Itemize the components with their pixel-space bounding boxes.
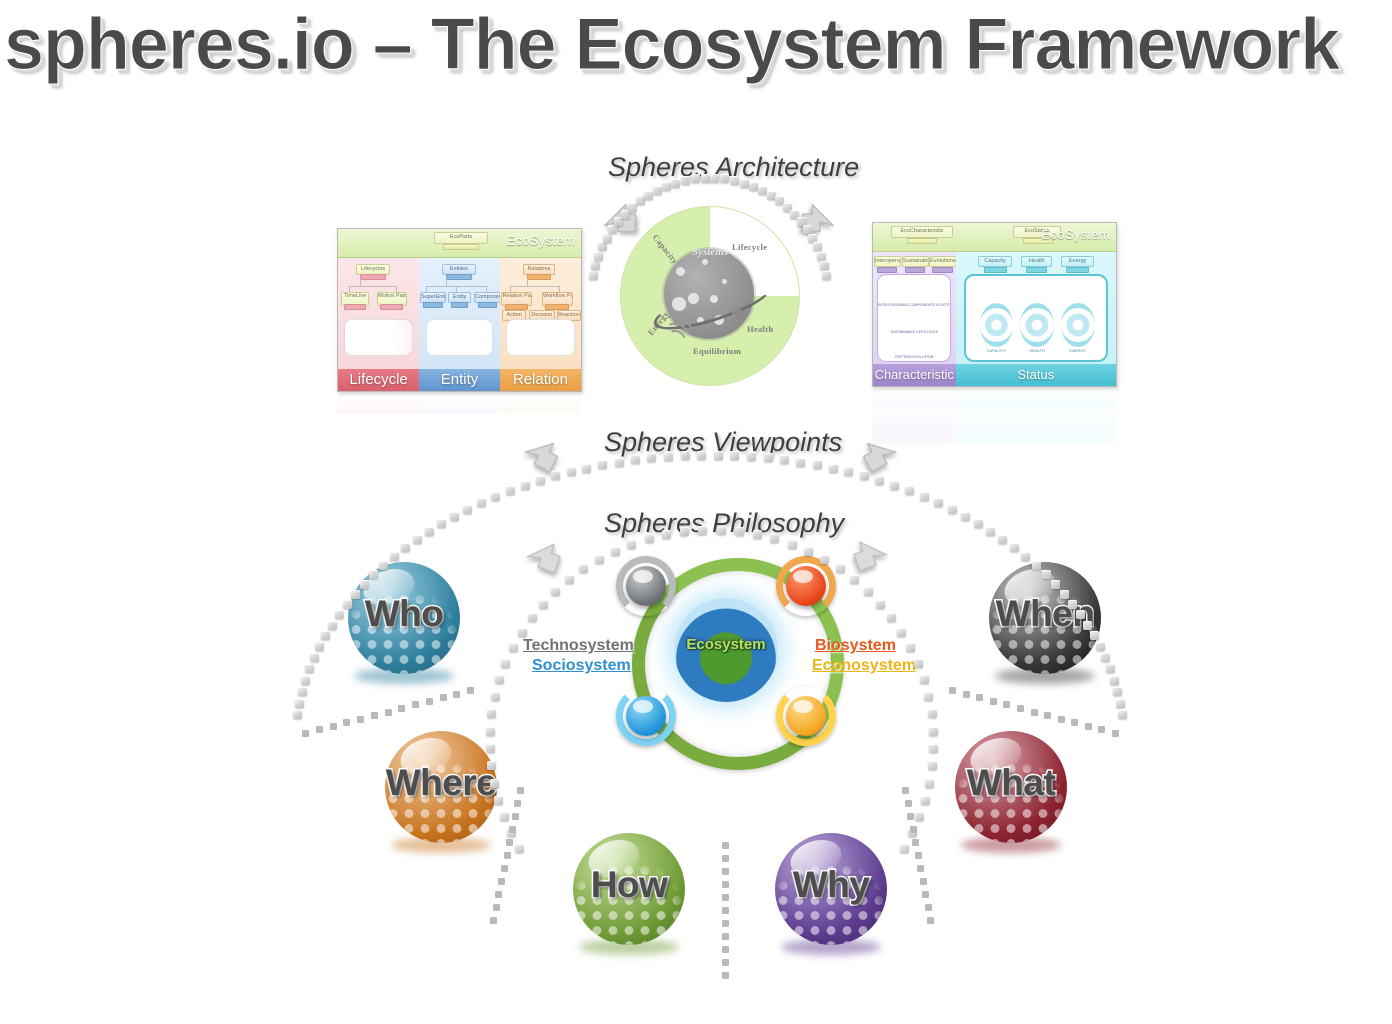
bead xyxy=(521,481,530,490)
divider-dot xyxy=(467,687,474,694)
bead xyxy=(579,564,588,573)
divider-dot xyxy=(722,933,729,940)
divider-dot xyxy=(501,865,508,872)
bead xyxy=(740,179,749,188)
bead xyxy=(662,182,671,191)
bead xyxy=(720,174,729,183)
arrow-right-icon xyxy=(512,420,574,482)
bead xyxy=(934,498,943,507)
bead xyxy=(360,580,369,589)
bead xyxy=(379,561,388,570)
divider-dot xyxy=(1003,701,1010,708)
bead xyxy=(615,458,624,467)
bead xyxy=(749,182,758,191)
bead xyxy=(295,699,304,708)
panel-header-title: EcoSystem xyxy=(507,233,575,248)
divider-dot xyxy=(509,826,516,833)
divider-dot xyxy=(514,800,521,807)
divider-dot xyxy=(722,946,729,953)
bead xyxy=(647,453,656,462)
bead xyxy=(501,659,510,668)
bead xyxy=(653,186,662,195)
divider-dot xyxy=(722,920,729,927)
bead xyxy=(627,540,636,549)
bead xyxy=(490,779,499,788)
bead xyxy=(631,455,640,464)
bead xyxy=(1032,561,1041,570)
bead xyxy=(589,271,598,280)
bead xyxy=(536,476,545,485)
bead xyxy=(611,547,620,556)
bead xyxy=(1021,552,1030,561)
bead xyxy=(691,174,700,183)
divider-dot xyxy=(722,894,729,901)
bead xyxy=(701,174,710,183)
bead xyxy=(928,709,937,718)
divider-dot xyxy=(343,719,350,726)
divider-dot xyxy=(504,852,511,859)
bead xyxy=(822,271,831,280)
bead xyxy=(735,527,744,536)
divider-dot xyxy=(498,878,505,885)
bead xyxy=(551,471,560,480)
bead xyxy=(598,242,607,251)
bead xyxy=(1116,699,1125,708)
divider-dot xyxy=(949,687,956,694)
bead xyxy=(803,225,812,234)
divider-dot xyxy=(440,694,447,701)
bead xyxy=(680,527,689,536)
bead xyxy=(509,643,518,652)
divider-dot xyxy=(453,691,460,698)
arrow-left-icon xyxy=(847,420,909,482)
bead xyxy=(321,631,330,640)
header-chip-ecoparts: EcoParts xyxy=(434,232,488,244)
philosophy-node-biosystem[interactable] xyxy=(776,556,836,616)
bead xyxy=(1083,621,1092,630)
bead xyxy=(603,234,612,243)
divider-dot xyxy=(517,787,524,794)
bead xyxy=(717,526,726,535)
bead xyxy=(758,186,767,195)
wheel-label-lifecycle: Lifecycle xyxy=(732,242,767,252)
bead xyxy=(998,535,1007,544)
chip-energy: Energy xyxy=(1061,256,1093,267)
bead xyxy=(730,451,739,460)
divider-dot xyxy=(722,972,729,979)
bead xyxy=(710,174,719,183)
divider-dot xyxy=(1071,719,1078,726)
divider-dot xyxy=(426,698,433,705)
bead xyxy=(844,467,853,476)
philosophy-label-econosystem: Econosystem xyxy=(812,656,916,675)
philosophy-center-label: Ecosystem xyxy=(674,636,778,653)
divider-dot xyxy=(925,904,932,911)
divider-dot xyxy=(1031,709,1038,716)
orb-label: Who xyxy=(348,594,460,634)
bead xyxy=(401,543,410,552)
arrow-inner-right-icon xyxy=(516,524,575,583)
bead xyxy=(876,600,885,609)
architecture-wheel[interactable]: Lifecycle Health Equilibrium Energy Capa… xyxy=(620,206,800,386)
divider-dot xyxy=(907,813,914,820)
divider-dot xyxy=(910,826,917,833)
bead xyxy=(567,467,576,476)
panel-header-title: EcoSystem xyxy=(1042,227,1110,242)
bead xyxy=(820,261,829,270)
bead xyxy=(860,471,869,480)
divider-dot xyxy=(722,842,729,849)
bead xyxy=(328,621,337,630)
divider-dot xyxy=(722,881,729,888)
bead xyxy=(528,613,537,622)
bead xyxy=(929,744,938,753)
bead xyxy=(788,540,797,549)
philosophy-node-econosystem[interactable] xyxy=(776,686,836,746)
gauge-label-health: HEALTH xyxy=(1020,348,1054,353)
bead xyxy=(920,675,929,684)
bead xyxy=(817,252,826,261)
bead xyxy=(914,659,923,668)
bead xyxy=(491,492,500,501)
divider-dot xyxy=(506,839,513,846)
bead xyxy=(813,460,822,469)
bead xyxy=(486,744,495,753)
column-footer-characteristic: Characteristic xyxy=(873,364,956,386)
characteristic-art-label-3: PATTERN EVOLUTION xyxy=(878,355,950,359)
divider-dot xyxy=(915,852,922,859)
bead xyxy=(594,252,603,261)
divider-dot xyxy=(490,917,497,924)
bead xyxy=(335,610,344,619)
bead xyxy=(506,486,515,495)
bead xyxy=(915,812,924,821)
bead xyxy=(315,642,324,651)
bead xyxy=(1113,687,1122,696)
wheel-label-health: Health xyxy=(747,324,773,334)
bead xyxy=(351,590,360,599)
bead xyxy=(450,512,459,521)
bead xyxy=(808,234,817,243)
bead xyxy=(986,527,995,536)
bead xyxy=(1068,600,1077,609)
bead xyxy=(595,555,604,564)
node-ball-icon xyxy=(626,696,666,736)
panel-column-status[interactable]: Capacity Health Energy CAPACITY HEALTH E… xyxy=(956,252,1116,386)
chip-health: Health xyxy=(1021,256,1052,267)
status-gauges: CAPACITY HEALTH ENERGY xyxy=(964,274,1108,362)
philosophy-label-biosystem: Biosystem xyxy=(815,636,896,655)
bead xyxy=(305,664,314,673)
bead xyxy=(477,498,486,507)
bead xyxy=(796,458,805,467)
bead xyxy=(301,676,310,685)
divider-dot xyxy=(316,726,323,733)
bead xyxy=(764,453,773,462)
lifecycle-diagram xyxy=(344,319,412,356)
divider-dot xyxy=(922,891,929,898)
characteristic-art-label-2: SUSTAINABLE LIFECYCLES xyxy=(878,330,950,334)
bead xyxy=(413,535,422,544)
bead xyxy=(310,653,319,662)
bead xyxy=(747,452,756,461)
architecture-panel-ecoparts[interactable]: EcoParts EcoSystem Lifecycles TimeLine M… xyxy=(337,228,582,392)
panel-header: EcoCharacteristic EcoStatus EcoSystem xyxy=(873,223,1116,252)
philosophy-node-sociosystem[interactable] xyxy=(616,686,676,746)
bead xyxy=(298,687,307,696)
bead xyxy=(598,460,607,469)
bead xyxy=(906,643,915,652)
gauge-label-energy: ENERGY xyxy=(1061,348,1095,353)
divider-dot xyxy=(905,800,912,807)
caption-spheres-viewpoints: Spheres Viewpoints xyxy=(604,427,842,458)
divider-dot xyxy=(1085,723,1092,730)
bead xyxy=(582,464,591,473)
viewpoint-sphere-what[interactable]: What xyxy=(955,731,1073,849)
divider-dot xyxy=(1098,726,1105,733)
divider-dot xyxy=(902,787,909,794)
bead xyxy=(850,575,859,584)
divider-dot xyxy=(1044,712,1051,719)
bead xyxy=(664,452,673,461)
orb-label: Where xyxy=(385,763,497,803)
orb-label: How xyxy=(573,865,685,905)
divider-dot xyxy=(917,865,924,872)
orb-label: What xyxy=(955,763,1067,803)
divider-dot xyxy=(976,694,983,701)
header-chip-ecocharacteristic: EcoCharacteristic xyxy=(891,226,953,238)
wheel-center-label: Systems xyxy=(692,246,728,258)
bead xyxy=(829,464,838,473)
chip-evolutionary: Evolutionary xyxy=(929,256,957,267)
bead xyxy=(500,812,509,821)
bead xyxy=(1110,676,1119,685)
page-title: spheres.io – The Ecosystem Framework xyxy=(4,2,1367,88)
divider-dot xyxy=(330,723,337,730)
divider-dot xyxy=(385,709,392,716)
chip-capacity: Capacity xyxy=(978,256,1012,267)
divider-dot xyxy=(1017,705,1024,712)
bead xyxy=(887,613,896,622)
bead xyxy=(875,476,884,485)
bead xyxy=(897,628,906,637)
bead xyxy=(495,675,504,684)
divider-dot xyxy=(920,878,927,885)
panel-header: EcoParts EcoSystem xyxy=(338,229,581,258)
bead xyxy=(591,261,600,270)
bead xyxy=(928,761,937,770)
bead xyxy=(486,727,495,736)
divider-dot xyxy=(512,813,519,820)
bead xyxy=(1118,710,1127,719)
bead xyxy=(961,512,970,521)
bead xyxy=(487,761,496,770)
bead xyxy=(681,176,690,185)
divider-dot xyxy=(722,959,729,966)
column-footer-entity: Entity xyxy=(419,369,500,391)
gauge-label-capacity: CAPACITY xyxy=(980,348,1014,353)
bead xyxy=(924,692,933,701)
divider-dot xyxy=(302,730,309,737)
panel-column-lifecycle[interactable]: Lifecycles TimeLine Motion Pattern Lifec… xyxy=(338,258,419,391)
bead xyxy=(925,779,934,788)
bead xyxy=(836,564,845,573)
bead xyxy=(900,844,909,853)
bead xyxy=(697,451,706,460)
bead xyxy=(487,709,496,718)
bead xyxy=(539,600,548,609)
divider-dot xyxy=(912,839,919,846)
bead xyxy=(1106,664,1115,673)
bead xyxy=(948,505,957,514)
wheel-label-equilibrium: Equilibrium xyxy=(693,346,741,356)
divider-dot xyxy=(493,904,500,911)
divider-dot xyxy=(495,891,502,898)
bead xyxy=(425,527,434,536)
bead xyxy=(890,481,899,490)
bead xyxy=(1042,570,1051,579)
characteristic-diagram: INTEROPERABLE COMPONENTS & ENTITIES SUST… xyxy=(877,274,951,362)
right-panel-reflection xyxy=(872,386,1115,444)
divider-dot xyxy=(722,868,729,875)
panel-column-relation[interactable]: Relations Relation Pattern Workflow Patt… xyxy=(500,258,581,391)
bead xyxy=(753,530,762,539)
viewpoint-sphere-how[interactable]: How xyxy=(573,833,691,951)
bead xyxy=(565,575,574,584)
bead xyxy=(1076,610,1085,619)
divider-dot xyxy=(412,701,419,708)
bead xyxy=(770,534,779,543)
arrow-up-left-icon xyxy=(795,193,841,239)
bead xyxy=(515,844,524,853)
panel-column-characteristic[interactable]: Interoperability Sustainability Evolutio… xyxy=(873,252,956,386)
divider-dot xyxy=(1058,716,1065,723)
philosophy-label-sociosystem: Sociosystem xyxy=(532,656,631,675)
bead xyxy=(681,451,690,460)
divider-dot xyxy=(963,691,970,698)
bead xyxy=(293,710,302,719)
philosophy-node-technosystem[interactable] xyxy=(616,556,676,616)
divider-dot xyxy=(357,716,364,723)
column-footer-lifecycle: Lifecycle xyxy=(338,369,419,391)
bead xyxy=(390,552,399,561)
bead xyxy=(813,242,822,251)
bead xyxy=(1010,543,1019,552)
bead xyxy=(551,587,560,596)
health-cross-icon xyxy=(732,306,746,320)
panel-column-entity[interactable]: Entities SuperEntity Entity Component En… xyxy=(419,258,500,391)
bead xyxy=(864,587,873,596)
column-footer-relation: Relation xyxy=(500,369,581,391)
divider-dot xyxy=(927,917,934,924)
divider-dot xyxy=(398,705,405,712)
bead xyxy=(662,530,671,539)
bead xyxy=(820,555,829,564)
divider-dot xyxy=(722,855,729,862)
divider-dot xyxy=(722,907,729,914)
bead xyxy=(804,547,813,556)
bead xyxy=(463,505,472,514)
bead xyxy=(905,486,914,495)
bead xyxy=(698,526,707,535)
bead xyxy=(730,176,739,185)
entity-diagram xyxy=(426,319,494,356)
node-ball-icon xyxy=(626,566,666,606)
bead xyxy=(1096,642,1105,651)
characteristic-art-label-1: INTEROPERABLE COMPONENTS & ENTITIES xyxy=(878,303,950,307)
bead xyxy=(1090,631,1099,640)
bead xyxy=(645,534,654,543)
bead xyxy=(369,570,378,579)
philosophy-label-technosystem: Technosystem xyxy=(523,636,634,655)
relation-diagram xyxy=(506,319,574,356)
chip-sustainability: Sustainability xyxy=(902,256,929,267)
bead xyxy=(921,796,930,805)
bead xyxy=(929,727,938,736)
bead xyxy=(974,519,983,528)
bead xyxy=(1060,590,1069,599)
node-ball-icon xyxy=(786,696,826,736)
bead xyxy=(920,492,929,501)
bead xyxy=(780,455,789,464)
bead xyxy=(671,179,680,188)
bead xyxy=(1051,580,1060,589)
column-footer-status: Status xyxy=(956,364,1116,386)
bead xyxy=(491,692,500,701)
divider-dot xyxy=(371,712,378,719)
divider-dot xyxy=(990,698,997,705)
divider-dot xyxy=(1112,730,1119,737)
bead xyxy=(437,519,446,528)
orb-label: Why xyxy=(775,865,887,905)
bead xyxy=(608,225,617,234)
bead xyxy=(494,796,503,805)
bead xyxy=(343,600,352,609)
node-ball-icon xyxy=(786,566,826,606)
bead xyxy=(644,191,653,200)
architecture-panel-ecostatus[interactable]: EcoCharacteristic EcoStatus EcoSystem In… xyxy=(872,222,1117,387)
viewpoint-sphere-why[interactable]: Why xyxy=(775,833,893,951)
bead xyxy=(1101,653,1110,662)
chip-interoperability: Interoperability xyxy=(874,256,902,267)
bead xyxy=(518,628,527,637)
bead xyxy=(714,451,723,460)
